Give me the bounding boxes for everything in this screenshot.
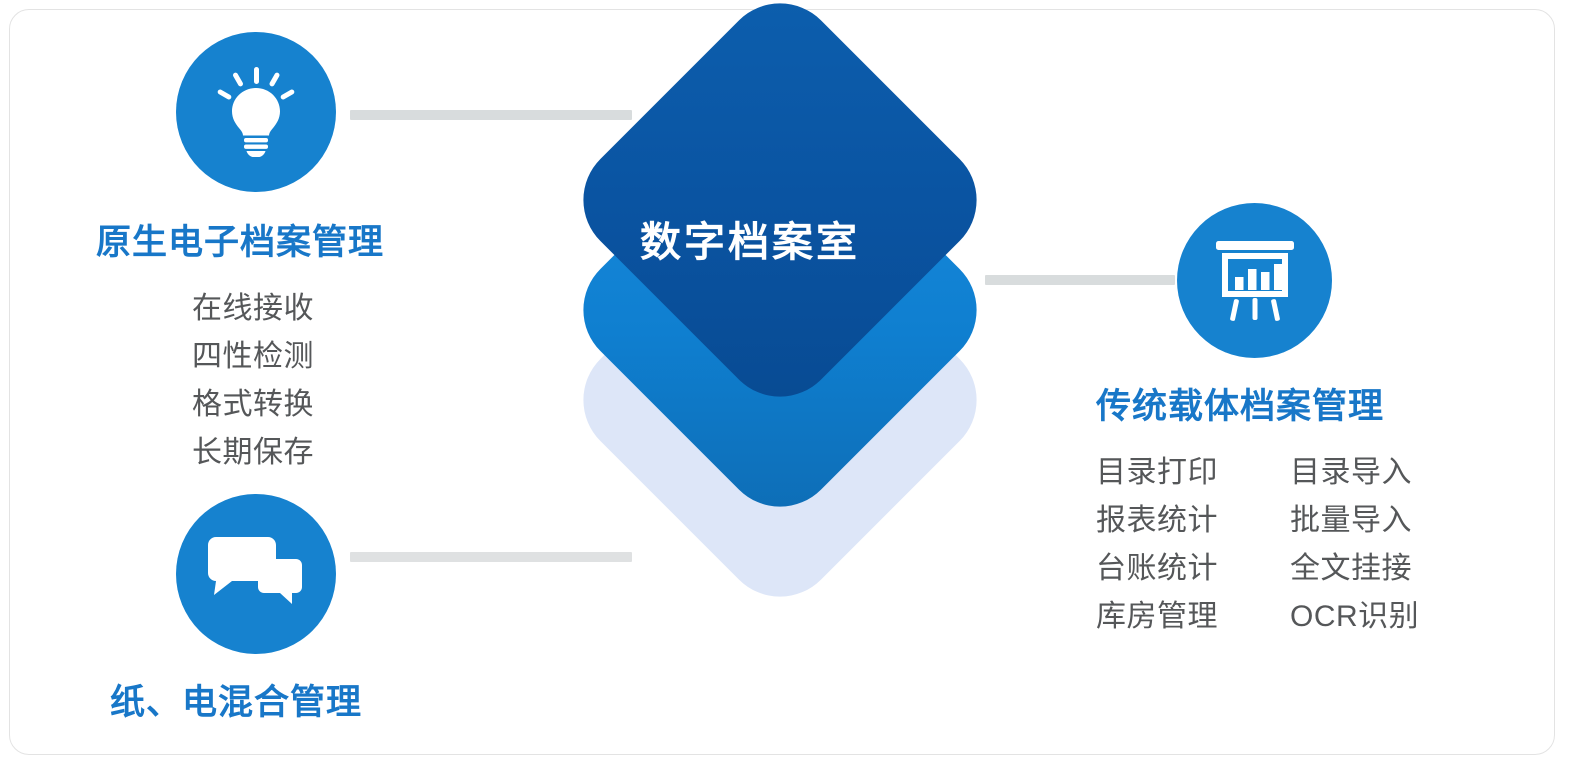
list-item: OCR识别 xyxy=(1290,593,1419,641)
list-item: 四性检测 xyxy=(192,333,516,381)
list-item: 库房管理 xyxy=(1096,593,1218,641)
list-item: 长期保存 xyxy=(192,429,516,477)
block-right-columns: 目录打印 报表统计 台账统计 库房管理 目录导入 批量导入 全文挂接 OCR识别 xyxy=(1096,449,1526,641)
list-item: 格式转换 xyxy=(192,381,516,429)
block-right: 传统载体档案管理 目录打印 报表统计 台账统计 库房管理 目录导入 批量导入 全… xyxy=(1096,388,1526,641)
block-top-left: 原生电子档案管理 在线接收 四性检测 格式转换 长期保存 xyxy=(96,224,516,477)
block-bottom-left: 纸、电混合管理 xyxy=(110,684,530,723)
block-right-heading: 传统载体档案管理 xyxy=(1096,388,1526,427)
list-item: 台账统计 xyxy=(1096,545,1218,593)
center-stack: 数字档案室 xyxy=(520,8,1040,628)
list-item: 目录导入 xyxy=(1290,449,1419,497)
block-top-left-heading: 原生电子档案管理 xyxy=(96,224,516,263)
center-label: 数字档案室 xyxy=(520,208,980,268)
list-item: 全文挂接 xyxy=(1290,545,1419,593)
lightbulb-icon-badge[interactable] xyxy=(176,32,336,192)
block-right-items-col2: 目录导入 批量导入 全文挂接 OCR识别 xyxy=(1290,449,1419,641)
lightbulb-icon xyxy=(213,67,299,157)
presentation-chart-icon-badge[interactable] xyxy=(1177,203,1332,358)
block-right-items-col1: 目录打印 报表统计 台账统计 库房管理 xyxy=(1096,449,1218,641)
diagram-canvas: 数字档案室 xyxy=(0,0,1574,774)
chat-bubbles-icon xyxy=(208,537,304,611)
list-item: 目录打印 xyxy=(1096,449,1218,497)
block-top-left-items: 在线接收 四性检测 格式转换 长期保存 xyxy=(96,285,516,477)
block-bottom-left-heading: 纸、电混合管理 xyxy=(110,684,530,723)
chat-bubbles-icon-badge[interactable] xyxy=(176,494,336,654)
list-item: 在线接收 xyxy=(192,285,516,333)
list-item: 批量导入 xyxy=(1290,497,1419,545)
list-item: 报表统计 xyxy=(1096,497,1218,545)
presentation-chart-icon xyxy=(1214,241,1296,321)
